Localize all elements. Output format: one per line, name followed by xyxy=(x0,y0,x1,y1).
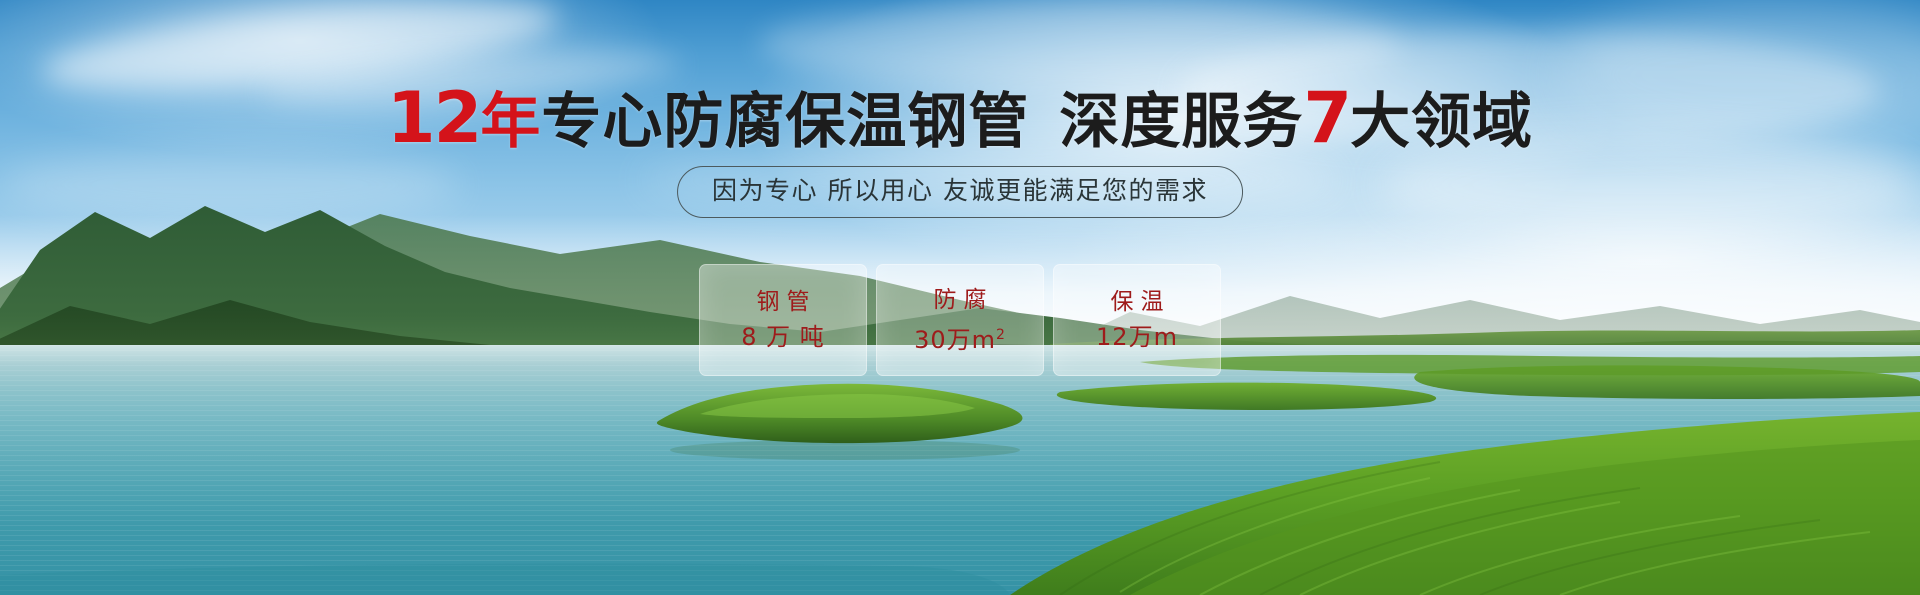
headline: 12年专心防腐保温钢管深度服务7大领域 xyxy=(0,86,1920,154)
subtitle-text: 因为专心 所以用心 友诚更能满足您的需求 xyxy=(712,176,1208,205)
stat-card-value-text: 12万m xyxy=(1096,323,1178,351)
headline-fields-number: 7 xyxy=(1303,77,1350,159)
stat-card-label: 保温 xyxy=(1104,289,1171,315)
stat-card-value-superscript: 2 xyxy=(996,327,1006,343)
stat-card-label: 防腐 xyxy=(927,287,994,313)
stat-card-value-text: 30万m xyxy=(914,326,996,354)
stat-card-value: 12万m xyxy=(1096,323,1178,351)
stat-card-anticorrosion: 防腐 30万m2 xyxy=(876,264,1044,376)
stat-card-value-text: 8 万 吨 xyxy=(741,323,825,351)
hero-banner: 12年专心防腐保温钢管深度服务7大领域 因为专心 所以用心 友诚更能满足您的需求… xyxy=(0,0,1920,595)
headline-years-unit: 年 xyxy=(480,87,541,157)
stat-card-insulation: 保温 12万m xyxy=(1053,264,1221,376)
headline-main-phrase: 专心防腐保温钢管 xyxy=(541,87,1029,157)
stat-card-group: 钢管 8 万 吨 防腐 30万m2 保温 12万m xyxy=(699,264,1221,376)
stat-card-value: 8 万 吨 xyxy=(741,323,825,351)
headline-fields-suffix: 大领域 xyxy=(1350,87,1533,157)
subtitle-pill: 因为专心 所以用心 友诚更能满足您的需求 xyxy=(677,166,1243,218)
stat-card-value: 30万m2 xyxy=(914,321,1006,354)
stat-card-steel-pipe: 钢管 8 万 吨 xyxy=(699,264,867,376)
headline-years-number: 12 xyxy=(387,77,480,159)
headline-service-phrase: 深度服务 xyxy=(1059,87,1303,157)
stat-card-label: 钢管 xyxy=(750,289,817,315)
